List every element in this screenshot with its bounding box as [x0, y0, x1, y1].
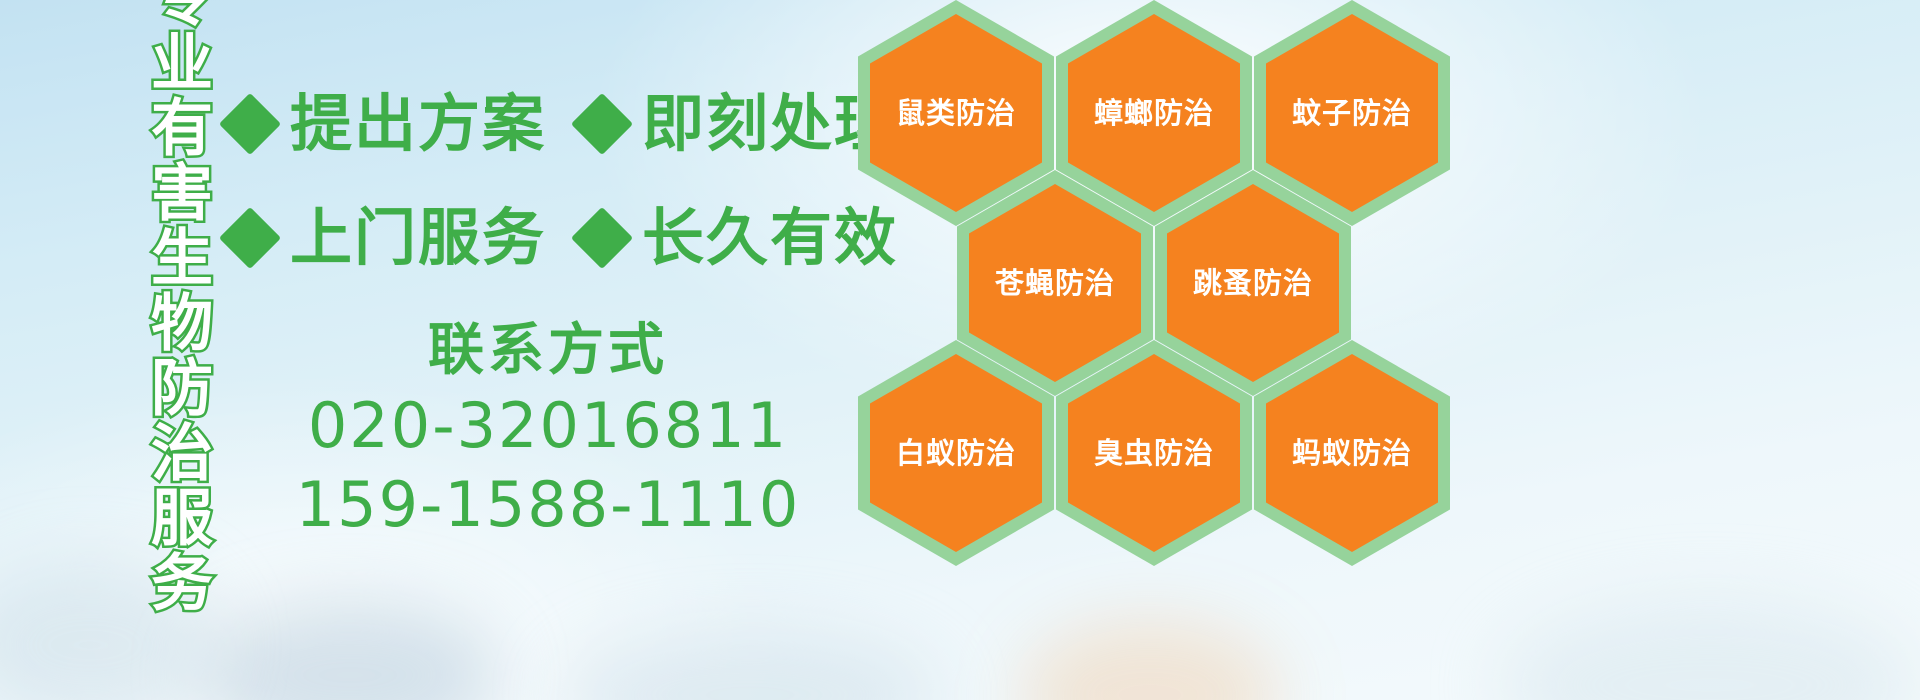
diamond-icon	[219, 93, 281, 155]
diamond-icon	[571, 93, 633, 155]
contact-block: 联系方式 020-32016811 159-1588-1110	[228, 316, 868, 545]
slogan-row: 提出方案 即刻处理	[228, 78, 868, 170]
service-label: 白蚁防治	[896, 439, 1016, 468]
slogan-text: 上门服务	[290, 207, 546, 269]
hexagon-inner: 臭虫防治	[1068, 354, 1240, 552]
service-label: 臭虫防治	[1094, 439, 1214, 468]
contact-title: 联系方式	[228, 316, 868, 386]
service-hexagon-grid: 鼠类防治 蟑螂防治 蚊子防治 苍蝇防治 跳蚤防治 白蚁防治	[852, 0, 1472, 568]
phone-number-mobile[interactable]: 159-1588-1110	[228, 465, 868, 544]
hexagon-inner: 蚊子防治	[1266, 14, 1438, 212]
service-label: 蚂蚁防治	[1292, 439, 1412, 468]
hexagon-inner: 白蚁防治	[870, 354, 1042, 552]
background-blur-blob	[1500, 600, 1920, 700]
diamond-icon	[571, 207, 633, 269]
phone-number-landline[interactable]: 020-32016811	[228, 386, 868, 465]
pest-control-banner: 专业有害生物防治服务 提出方案 即刻处理 上门服务 长久有效 联系方式 020-…	[0, 0, 1920, 700]
hexagon-inner: 苍蝇防治	[969, 184, 1141, 382]
hexagon-inner: 鼠类防治	[870, 14, 1042, 212]
service-label: 蟑螂防治	[1094, 99, 1214, 128]
hexagon-inner: 蚂蚁防治	[1266, 354, 1438, 552]
slogan-list: 提出方案 即刻处理 上门服务 长久有效	[228, 78, 868, 306]
slogan-text: 提出方案	[290, 93, 546, 155]
service-label: 苍蝇防治	[995, 269, 1115, 298]
service-label: 跳蚤防治	[1193, 269, 1313, 298]
vertical-headline: 专业有害生物防治服务	[112, 10, 208, 570]
hexagon-inner: 蟑螂防治	[1068, 14, 1240, 212]
background-blur-blob	[1020, 620, 1280, 700]
background-blur-blob	[560, 630, 940, 700]
service-label: 鼠类防治	[896, 99, 1016, 128]
hexagon-inner: 跳蚤防治	[1167, 184, 1339, 382]
service-label: 蚊子防治	[1292, 99, 1412, 128]
diamond-icon	[219, 207, 281, 269]
slogan-row: 上门服务 长久有效	[228, 192, 868, 284]
background-blur-blob	[200, 600, 500, 700]
